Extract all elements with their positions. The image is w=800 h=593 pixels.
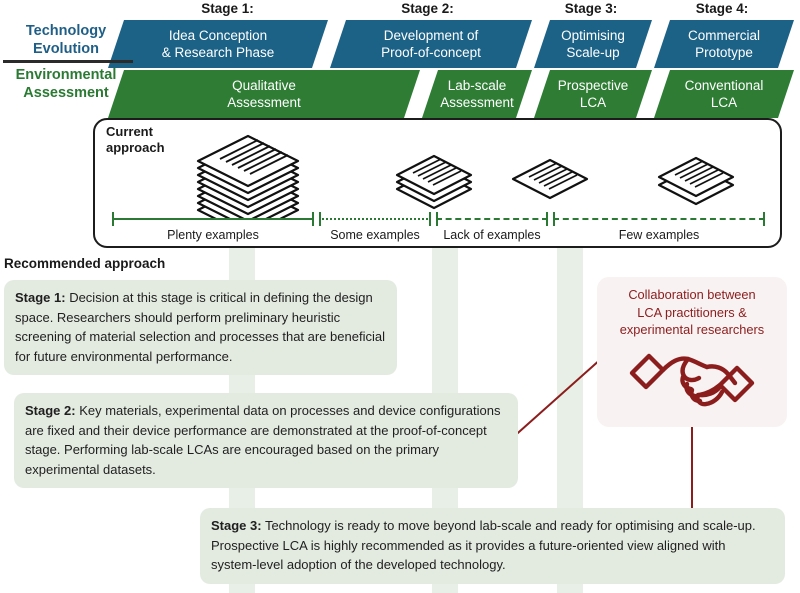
recommendation-note-stage-2: Stage 2: Key materials, experimental dat…: [14, 393, 518, 488]
row-label-environmental-line1: Environmental: [0, 66, 132, 84]
row-label-technology-line2: Evolution: [0, 40, 132, 58]
row-label-environmental-line2: Assessment: [0, 84, 132, 102]
measure-cap-right: [312, 212, 314, 226]
tech-stage-3-line2: Scale-up: [561, 44, 625, 61]
env-stage-1-line1: Qualitative: [227, 77, 301, 94]
env-stage-2-line2: Assessment: [440, 94, 514, 111]
measure-label-plenty: Plenty examples: [112, 228, 314, 242]
env-stage-chevron-4[interactable]: Conventional LCA: [654, 70, 794, 118]
row-label-technology-evolution: Technology Evolution: [0, 22, 132, 58]
measure-label-lack: Lack of examples: [436, 228, 548, 242]
env-stage-4-line1: Conventional: [685, 77, 764, 94]
collaboration-connector-vertical: [691, 425, 693, 510]
collaboration-text: Collaboration between LCA practitioners …: [597, 286, 787, 339]
measure-cap-right: [546, 212, 548, 226]
measure-rule-dash-long: [436, 218, 548, 220]
document-stack-icon-some: [393, 154, 475, 217]
stage-title-1: Stage 1:: [130, 1, 325, 16]
document-stack-icon-few: [655, 156, 737, 215]
tech-stage-chevron-1[interactable]: Idea Conception & Research Phase: [108, 20, 328, 68]
document-stack-icon-lack: [509, 158, 591, 211]
measure-rule-solid: [112, 218, 314, 220]
measure-plenty-examples: Plenty examples: [112, 212, 314, 226]
measure-cap-right: [429, 212, 431, 226]
collaboration-callout: Collaboration between LCA practitioners …: [597, 277, 787, 427]
current-approach-label: Current approach: [106, 124, 165, 156]
tech-stage-1-line2: & Research Phase: [162, 44, 275, 61]
measure-few-examples: Few examples: [553, 212, 765, 226]
stage-title-row: Stage 1: Stage 2: Stage 3: Stage 4:: [0, 0, 800, 20]
tech-stage-3-line1: Optimising: [561, 27, 625, 44]
tech-stage-2-line2: Proof-of-concept: [381, 44, 481, 61]
env-stage-chevron-1[interactable]: Qualitative Assessment: [108, 70, 420, 118]
env-stage-1-line2: Assessment: [227, 94, 301, 111]
current-approach-label-line2: approach: [106, 140, 165, 156]
env-stage-chevron-3[interactable]: Prospective LCA: [534, 70, 652, 118]
measure-lack-of-examples: Lack of examples: [436, 212, 548, 226]
measure-cap-left: [112, 212, 114, 226]
tech-stage-4-line1: Commercial: [688, 27, 760, 44]
tech-stage-chevron-4[interactable]: Commercial Prototype: [654, 20, 794, 68]
recommendation-note-stage-1: Stage 1: Decision at this stage is criti…: [4, 280, 397, 375]
tech-stage-2-line1: Development of: [381, 27, 481, 44]
handshake-icon: [627, 343, 757, 420]
stage-title-4: Stage 4:: [652, 1, 792, 16]
note-stage-1-label: Stage 1:: [15, 290, 66, 305]
collaboration-line-1: Collaboration between: [597, 286, 787, 304]
note-stage-2-text: Key materials, experimental data on proc…: [25, 403, 500, 477]
current-approach-label-line1: Current: [106, 124, 165, 140]
row-label-technology-line1: Technology: [0, 22, 132, 40]
measure-rule-dash-short: [553, 218, 765, 220]
env-stage-2-line1: Lab-scale: [440, 77, 514, 94]
env-stage-chevron-2[interactable]: Lab-scale Assessment: [422, 70, 532, 118]
recommended-approach-title: Recommended approach: [4, 256, 165, 271]
measure-cap-left: [553, 212, 555, 226]
note-stage-2-label: Stage 2:: [25, 403, 76, 418]
recommendation-note-stage-3: Stage 3: Technology is ready to move bey…: [200, 508, 785, 584]
measure-label-few: Few examples: [553, 228, 765, 242]
figure-canvas: Stage 1: Stage 2: Stage 3: Stage 4: Tech…: [0, 0, 800, 593]
measure-rule-dotted: [319, 218, 431, 220]
measure-cap-left: [319, 212, 321, 226]
measure-cap-left: [436, 212, 438, 226]
collaboration-line-2: LCA practitioners &: [597, 304, 787, 322]
measure-some-examples: Some examples: [319, 212, 431, 226]
measure-cap-right: [763, 212, 765, 226]
tech-stage-1-line1: Idea Conception: [162, 27, 275, 44]
env-stage-4-line2: LCA: [685, 94, 764, 111]
row-label-environmental-assessment: Environmental Assessment: [0, 66, 132, 102]
note-stage-3-label: Stage 3:: [211, 518, 262, 533]
env-stage-3-line1: Prospective: [558, 77, 629, 94]
stage-title-2: Stage 2:: [325, 1, 530, 16]
note-stage-1-text: Decision at this stage is critical in de…: [15, 290, 385, 364]
env-stage-3-line2: LCA: [558, 94, 629, 111]
tech-stage-4-line2: Prototype: [688, 44, 760, 61]
tech-stage-chevron-2[interactable]: Development of Proof-of-concept: [330, 20, 532, 68]
tech-stage-chevron-3[interactable]: Optimising Scale-up: [534, 20, 652, 68]
collaboration-line-3: experimental researchers: [597, 321, 787, 339]
stage-title-3: Stage 3:: [532, 1, 650, 16]
collaboration-connector-diagonal: [510, 358, 602, 440]
measure-label-some: Some examples: [319, 228, 431, 242]
row-divider: [3, 60, 133, 63]
note-stage-3-text: Technology is ready to move beyond lab-s…: [211, 518, 756, 572]
